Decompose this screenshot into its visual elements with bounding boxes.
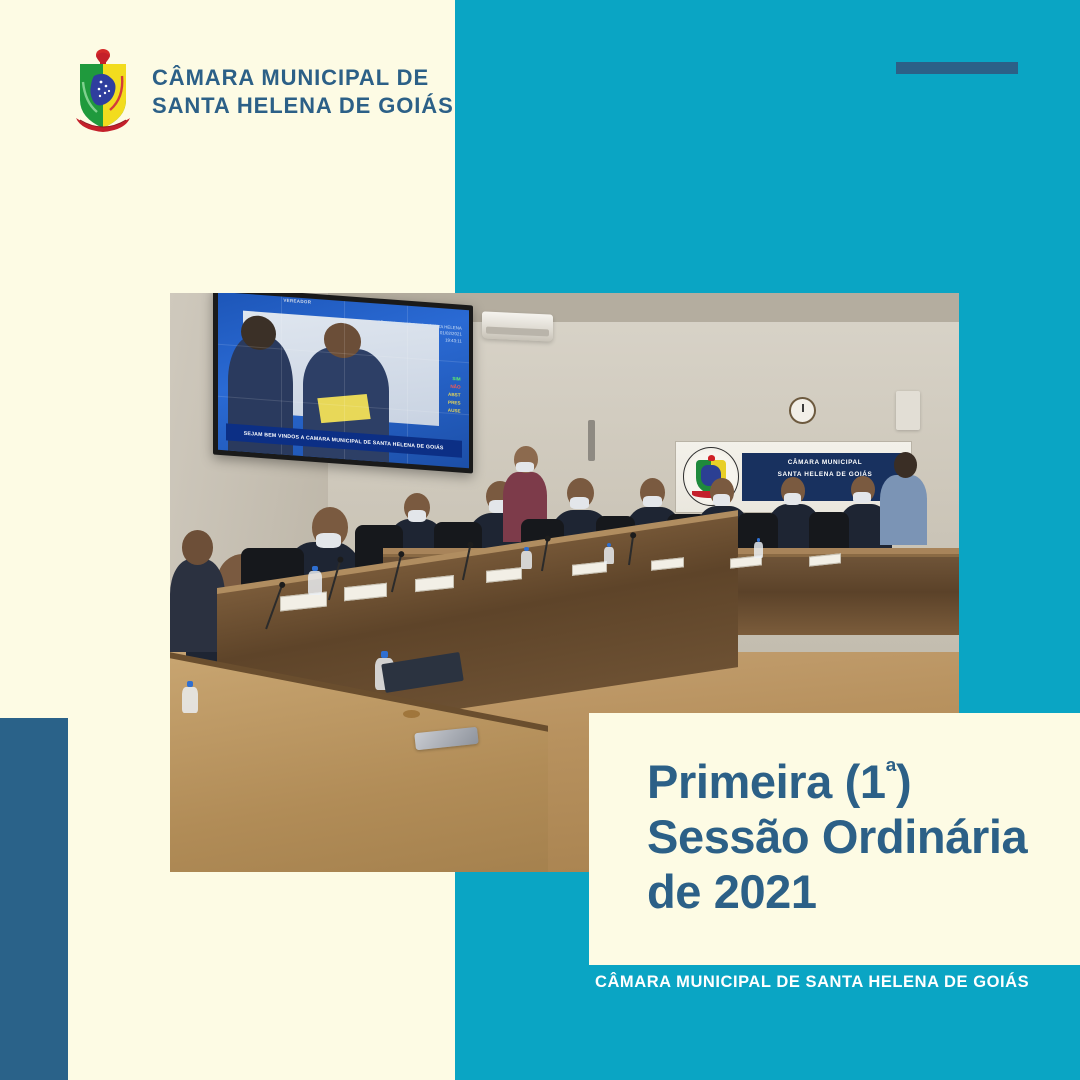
standing-attendee-head <box>894 452 917 477</box>
brand-header: CÂMARA MUNICIPAL DE SANTA HELENA DE GOIÁ… <box>72 48 454 136</box>
poster-title: Primeira (1ª) Sessão Ordinária de 2021 <box>647 755 1080 920</box>
water-bottle <box>521 551 532 570</box>
poster-title-line1-main: Primeira (1 <box>647 755 886 808</box>
council-member-mask <box>643 496 661 508</box>
title-card: Primeira (1ª) Sessão Ordinária de 2021 <box>589 713 1080 965</box>
water-bottle <box>182 687 198 714</box>
water-bottle <box>604 547 614 564</box>
caption-bar: CÂMARA MUNICIPAL DE SANTA HELENA DE GOIÁ… <box>589 965 1080 999</box>
cream-footer-panel <box>0 878 455 1080</box>
standing-attendee <box>880 475 927 544</box>
organization-name: CÂMARA MUNICIPAL DE SANTA HELENA DE GOIÁ… <box>152 64 454 120</box>
poster-title-line2: Sessão Ordinária <box>647 810 1080 865</box>
water-bottle <box>308 571 322 595</box>
council-member-mask <box>713 494 730 506</box>
poster-title-ordinal: ª <box>886 756 896 788</box>
organization-name-line2: SANTA HELENA DE GOIÁS <box>152 92 454 120</box>
poster-title-line1-close: ) <box>896 755 911 808</box>
foreground-member-mask <box>316 533 341 549</box>
council-member-mask <box>408 510 426 522</box>
water-bottle <box>754 542 763 558</box>
council-member-mask <box>570 497 589 509</box>
organization-name-line1: CÂMARA MUNICIPAL DE <box>152 64 454 92</box>
poster-title-line1: Primeira (1ª) <box>647 755 1080 810</box>
council-member-mask <box>784 493 801 505</box>
small-object <box>403 710 420 718</box>
poster-canvas: CÂMARA MUNICIPAL DE SANTA HELENA DE GOIÁ… <box>0 0 1080 1080</box>
coat-of-arms-icon <box>72 48 134 136</box>
top-right-accent-rule <box>896 62 1018 74</box>
caption-text: CÂMARA MUNICIPAL DE SANTA HELENA DE GOIÁ… <box>589 973 1029 992</box>
standing-staff-mask <box>516 462 533 472</box>
bottom-left-accent-block <box>0 718 68 1080</box>
council-member-mask <box>853 492 870 503</box>
poster-title-line3: de 2021 <box>647 865 1080 920</box>
